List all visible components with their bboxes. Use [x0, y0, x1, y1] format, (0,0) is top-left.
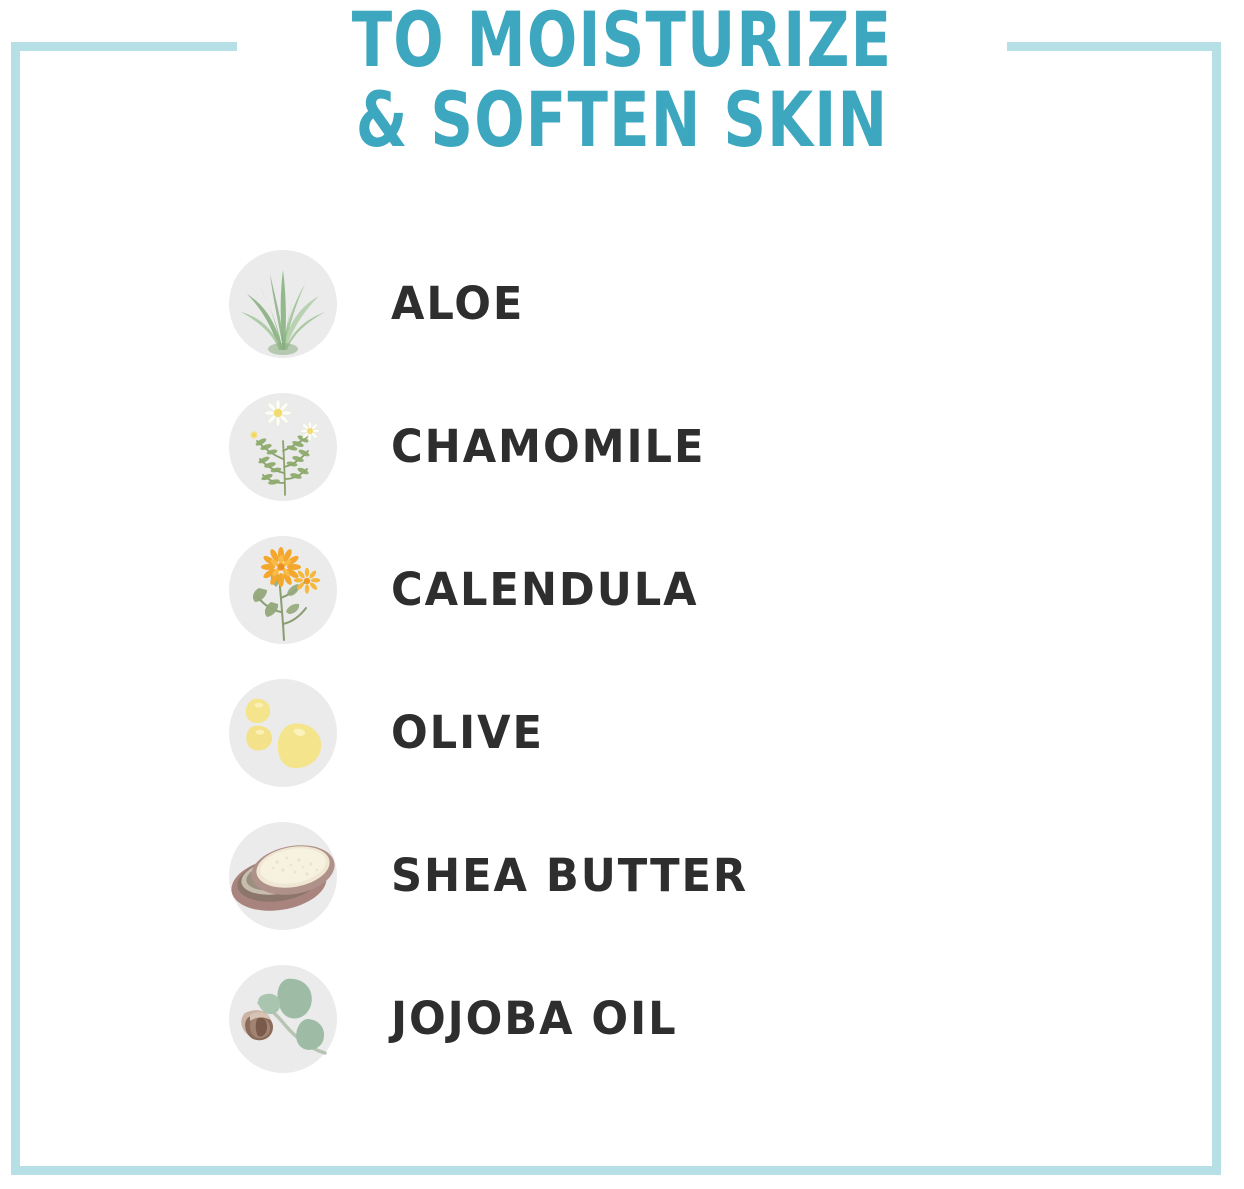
list-item-label: SHEA BUTTER: [391, 853, 748, 898]
jojoba-seed-leaves-icon: [229, 965, 337, 1073]
title-frame-gap-mask: [237, 20, 1007, 72]
aloe-plant-icon: [229, 250, 337, 358]
list-item-label: CALENDULA: [391, 567, 699, 612]
ingredient-list: ALOE: [0, 232, 1244, 1090]
calendula-flower-icon: [229, 536, 337, 644]
list-item: SHEA BUTTER: [0, 804, 1244, 947]
list-item-label: OLIVE: [391, 710, 544, 755]
chamomile-flower-icon: [229, 393, 337, 501]
list-item: CHAMOMILE: [0, 375, 1244, 518]
list-item: CALENDULA: [0, 518, 1244, 661]
olive-oil-droplets-icon: [229, 679, 337, 787]
list-item-label: CHAMOMILE: [391, 424, 705, 469]
shea-butter-nut-icon: [229, 822, 337, 930]
list-item: JOJOBA OIL: [0, 947, 1244, 1090]
list-item-label: ALOE: [391, 281, 524, 326]
list-item-label: JOJOBA OIL: [391, 996, 678, 1041]
list-item: OLIVE: [0, 661, 1244, 804]
list-item: ALOE: [0, 232, 1244, 375]
